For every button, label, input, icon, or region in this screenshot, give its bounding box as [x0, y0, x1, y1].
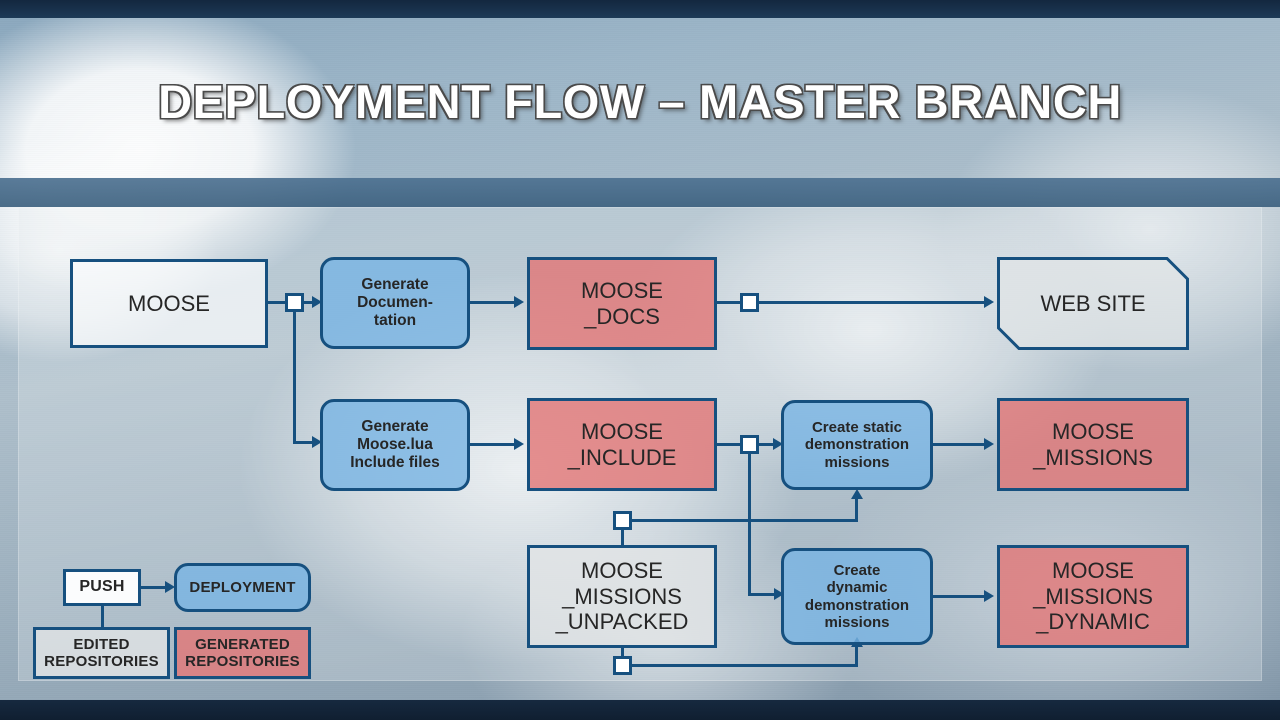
arrowhead-mooseinclude — [514, 438, 524, 450]
node-moose-include-label: MOOSE _INCLUDE — [530, 419, 714, 470]
node-generate-include[interactable]: Generate Moose.lua Include files — [320, 399, 470, 491]
legend-push-label: PUSH — [66, 578, 138, 597]
connector-moosedocs-out — [717, 301, 741, 304]
node-generate-documentation[interactable]: Generate Documen- tation — [320, 257, 470, 349]
node-create-dynamic-missions-label: Create dynamic demonstration missions — [784, 562, 930, 632]
node-moose-include[interactable]: MOOSE _INCLUDE — [527, 398, 717, 491]
legend-generated-repositories-label: GENERATED REPOSITORIES — [177, 636, 308, 671]
connector-mooseinclude-out — [717, 443, 741, 446]
top-bar — [0, 0, 1280, 18]
legend-edited-repositories-label: EDITED REPOSITORIES — [36, 636, 167, 671]
connector-include-junction-down — [748, 454, 751, 596]
junction-unpacked-bottom[interactable] — [613, 656, 632, 675]
connector-unpacked-top-stub — [621, 530, 624, 546]
node-moose-missions-dynamic[interactable]: MOOSE _MISSIONS _DYNAMIC — [997, 545, 1189, 648]
arrowhead-static-bottom — [851, 489, 863, 499]
connector-unpacked-top-right — [632, 519, 858, 522]
legend-deployment-label: DEPLOYMENT — [177, 579, 308, 596]
connector-unpacked-bottom-up — [855, 645, 858, 664]
node-generate-documentation-label: Generate Documen- tation — [323, 276, 467, 330]
arrowhead-moose-missions — [984, 438, 994, 450]
junction-unpacked-top[interactable] — [613, 511, 632, 530]
node-moose-missions-dynamic-label: MOOSE _MISSIONS _DYNAMIC — [1000, 558, 1186, 635]
node-moose-docs[interactable]: MOOSE _DOCS — [527, 257, 717, 350]
node-moose[interactable]: MOOSE — [70, 259, 268, 348]
legend-edited-repositories[interactable]: EDITED REPOSITORIES — [33, 627, 170, 679]
node-create-static-missions[interactable]: Create static demonstration missions — [781, 400, 933, 490]
node-moose-missions-unpacked[interactable]: MOOSE _MISSIONS _UNPACKED — [527, 545, 717, 648]
node-web-site-label: WEB SITE — [1040, 291, 1145, 317]
connector-static-to-missions — [933, 443, 988, 446]
legend-deployment[interactable]: DEPLOYMENT — [174, 563, 311, 612]
connector-push-down — [101, 606, 104, 628]
node-moose-missions[interactable]: MOOSE _MISSIONS — [997, 398, 1189, 491]
legend-generated-repositories[interactable]: GENERATED REPOSITORIES — [174, 627, 311, 679]
connector-moose-out — [268, 301, 286, 304]
junction-moose-include[interactable] — [740, 435, 759, 454]
node-moose-missions-label: MOOSE _MISSIONS — [1000, 419, 1186, 470]
bottom-bar — [0, 700, 1280, 720]
slide-canvas: DEPLOYMENT FLOW – MASTER BRANCH MOOSE Ge… — [0, 0, 1280, 720]
node-moose-label: MOOSE — [73, 291, 265, 317]
node-create-dynamic-missions[interactable]: Create dynamic demonstration missions — [781, 548, 933, 645]
connector-gendocs-to-moosedocs — [470, 301, 518, 304]
node-generate-include-label: Generate Moose.lua Include files — [323, 418, 467, 472]
legend-push[interactable]: PUSH — [63, 569, 141, 606]
header-divider-band — [0, 178, 1280, 207]
arrowhead-website — [984, 296, 994, 308]
junction-moose[interactable] — [285, 293, 304, 312]
node-moose-missions-unpacked-label: MOOSE _MISSIONS _UNPACKED — [530, 558, 714, 635]
connector-junction-down — [293, 312, 296, 444]
connector-dynamic-to-missions-dynamic — [933, 595, 988, 598]
node-create-static-missions-label: Create static demonstration missions — [784, 419, 930, 471]
connector-geninclude-to-mooseinclude — [470, 443, 518, 446]
junction-moose-docs[interactable] — [740, 293, 759, 312]
node-moose-docs-label: MOOSE _DOCS — [530, 278, 714, 329]
connector-unpacked-top-up — [855, 497, 858, 519]
page-title: DEPLOYMENT FLOW – MASTER BRANCH — [0, 74, 1280, 129]
arrowhead-moose-missions-dynamic — [984, 590, 994, 602]
connector-junction-to-website — [759, 301, 990, 304]
connector-unpacked-bottom-right — [632, 664, 858, 667]
arrowhead-moosedocs — [514, 296, 524, 308]
node-web-site[interactable]: WEB SITE — [997, 257, 1189, 350]
